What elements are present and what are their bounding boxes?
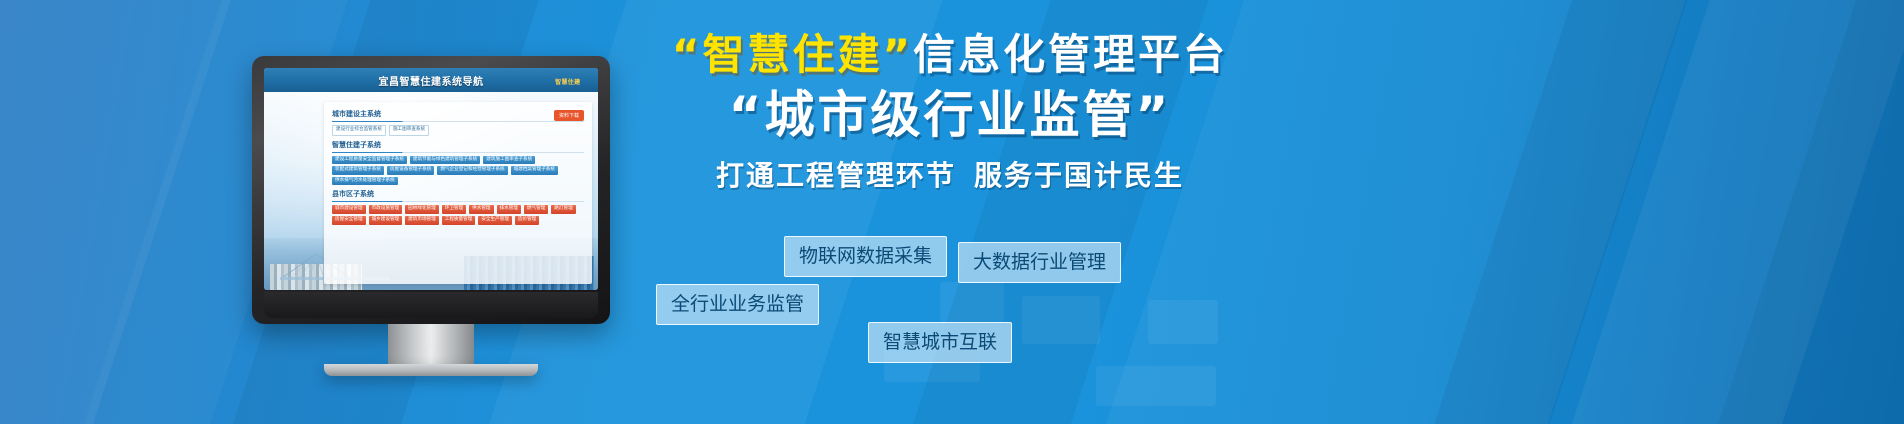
headline-highlight-text: 智慧住建 <box>702 30 882 79</box>
feature-tag-smart-city[interactable]: 智慧城市互联 <box>868 322 1012 363</box>
headline-subline-part1: 打通工程管理环节 <box>716 159 956 192</box>
headline-rest-text: 信息化管理平台 <box>913 30 1228 79</box>
nav-chip[interactable]: 建设行业综合监管系统 <box>332 125 386 136</box>
section-divider <box>332 121 584 122</box>
feature-tag-bigdata-industry[interactable]: 大数据行业管理 <box>958 242 1121 283</box>
promo-banner: 宜昌智慧住建系统导航 智慧住建 WISDOM RESIDENTIAL 资料下载 <box>0 0 1904 424</box>
decorative-band <box>1690 0 1904 424</box>
section-chip-group: 城市建设管理 市政设施管理 园林绿化管理 环卫管理 供水管理 排水管理 燃气管理… <box>332 205 584 224</box>
headline-block: “智慧住建”信息化管理平台 “城市级行业监管” 打通工程管理环节服务于国计民生 <box>640 34 1260 194</box>
section-title: 智慧住建子系统 <box>332 140 584 150</box>
navigation-panel: 资料下载 城市建设主系统 建设行业综合监管系统 施工图审查系统 智慧住建子系统 … <box>324 102 592 284</box>
nav-chip[interactable]: 城乡建设管理 <box>369 216 403 225</box>
feature-tag-industry-supervision[interactable]: 全行业业务监管 <box>656 284 819 325</box>
nav-chip[interactable]: 房屋设备管理子系统 <box>387 166 434 175</box>
decorative-band <box>1537 0 1904 424</box>
nav-chip[interactable]: 路灯管理 <box>551 205 575 214</box>
decorative-square <box>1096 366 1216 406</box>
nav-chip[interactable]: 造价管理 <box>515 216 539 225</box>
nav-chip[interactable]: 园林绿化管理 <box>405 205 439 214</box>
feature-tag-group: 物联网数据采集 大数据行业管理 全行业业务监管 智慧城市互联 <box>640 232 1280 362</box>
feature-tag-iot-data[interactable]: 物联网数据采集 <box>784 236 947 277</box>
nav-chip[interactable]: 装配式建筑管理子系统 <box>332 166 384 175</box>
nav-chip[interactable]: 排水管理 <box>497 205 521 214</box>
section-chip-group: 建设工程质量安全监督管理子系统 建筑节能与绿色建筑管理子系统 建筑施工图审查子系… <box>332 156 584 186</box>
nav-chip[interactable]: 建筑施工图审查子系统 <box>483 156 535 165</box>
nav-chip[interactable]: 建筑市场管理 <box>405 216 439 225</box>
headline-line-3: 打通工程管理环节服务于国计民生 <box>640 154 1260 194</box>
monitor-bezel: 宜昌智慧住建系统导航 智慧住建 WISDOM RESIDENTIAL 资料下载 <box>252 56 610 324</box>
screen-body: 资料下载 城市建设主系统 建设行业综合监管系统 施工图审查系统 智慧住建子系统 … <box>264 92 598 290</box>
section-title: 城市建设主系统 <box>332 109 584 119</box>
nav-chip[interactable]: 建设工程质量安全监督管理子系统 <box>332 156 407 165</box>
headline-quote-open: “ <box>672 30 703 79</box>
nav-chip[interactable]: 燃气企业登记和经营管理子系统 <box>437 166 507 175</box>
download-button[interactable]: 资料下载 <box>554 110 584 121</box>
nav-chip[interactable]: 建筑节能与绿色建筑管理子系统 <box>410 156 480 165</box>
nav-chip[interactable]: 供水排气污水处理管理子系统 <box>332 177 398 186</box>
screen-header-title: 宜昌智慧住建系统导航 <box>379 73 484 88</box>
apple-logo-icon:  <box>425 327 436 346</box>
nav-chip[interactable]: 城建档案管理子系统 <box>511 166 558 175</box>
nav-chip[interactable]: 供水管理 <box>469 205 493 214</box>
headline-subline-part2: 服务于国计民生 <box>974 159 1184 192</box>
section-divider <box>332 152 584 153</box>
nav-chip[interactable]: 燃气管理 <box>524 205 548 214</box>
nav-chip[interactable]: 安全生产管理 <box>478 216 512 225</box>
section-title: 县市区子系统 <box>332 189 584 199</box>
screen-header: 宜昌智慧住建系统导航 智慧住建 WISDOM RESIDENTIAL <box>264 68 598 92</box>
nav-chip[interactable]: 市政设施管理 <box>369 205 403 214</box>
headline-line-1: “智慧住建”信息化管理平台 <box>640 34 1260 76</box>
nav-chip[interactable]: 房屋安全管理 <box>332 216 366 225</box>
headline-quote-close: ” <box>883 30 914 79</box>
monitor-mockup: 宜昌智慧住建系统导航 智慧住建 WISDOM RESIDENTIAL 资料下载 <box>252 56 610 324</box>
monitor-screen: 宜昌智慧住建系统导航 智慧住建 WISDOM RESIDENTIAL 资料下载 <box>264 68 598 290</box>
section-divider <box>332 201 584 202</box>
nav-chip[interactable]: 施工图审查系统 <box>389 125 429 136</box>
nav-chip[interactable]: 工程质量管理 <box>442 216 476 225</box>
decorative-band <box>0 0 253 424</box>
monitor-stand-base <box>324 364 538 376</box>
section-chip-group: 建设行业综合监管系统 施工图审查系统 <box>332 125 584 136</box>
nav-chip[interactable]: 环卫管理 <box>442 205 466 214</box>
screen-logo-line1: 智慧住建 <box>555 79 580 86</box>
nav-chip[interactable]: 城市建设管理 <box>332 205 366 214</box>
decorative-band <box>1395 0 1716 424</box>
headline-line-2: “城市级行业监管” <box>640 90 1260 140</box>
